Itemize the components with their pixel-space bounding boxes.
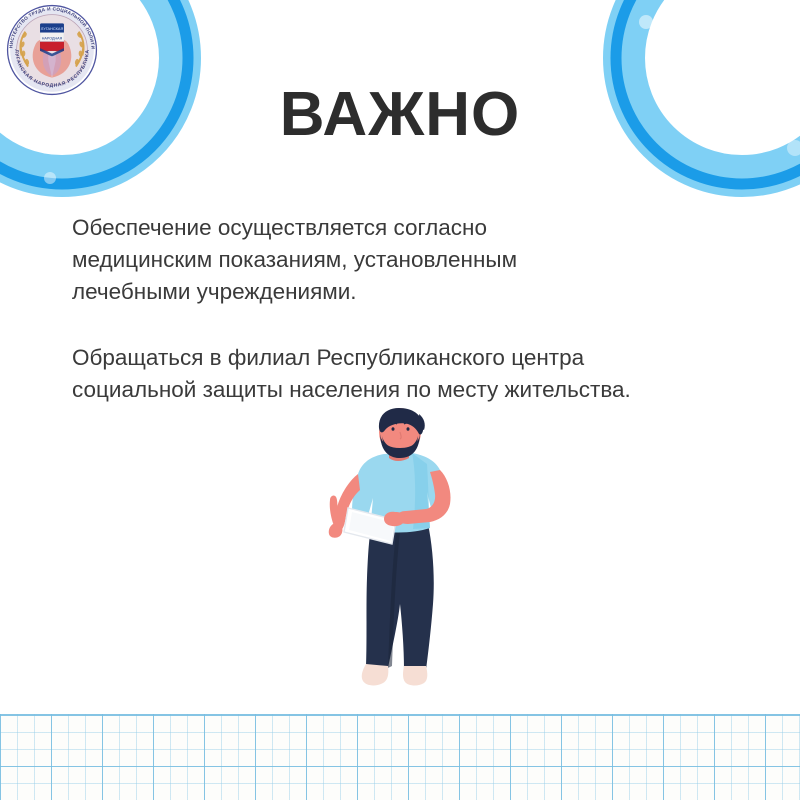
paragraph-2: Обращаться в филиал Республиканского цен…	[72, 342, 784, 406]
pants	[366, 524, 434, 670]
svg-text:ЛУГАНСКАЯ: ЛУГАНСКАЯ	[41, 27, 64, 31]
poster-canvas: ЛУГАНСКАЯ НАРОДНАЯ МИНИСТЕРСТВО ТРУДА И …	[0, 0, 800, 800]
paragraph-1: Обеспечение осуществляется согласно меди…	[72, 212, 784, 308]
svg-text:НАРОДНАЯ: НАРОДНАЯ	[42, 36, 63, 40]
graph-paper-strip	[0, 714, 800, 800]
pointing-index-finger	[330, 496, 338, 527]
page-title: ВАЖНО	[0, 82, 800, 147]
right-hand	[384, 512, 405, 526]
graph-paper-top-edge	[0, 714, 800, 715]
feet	[362, 664, 428, 686]
man-pointing-up-holding-papers-illustration	[300, 408, 485, 708]
body-copy: Обеспечение осуществляется согласно меди…	[72, 212, 784, 406]
